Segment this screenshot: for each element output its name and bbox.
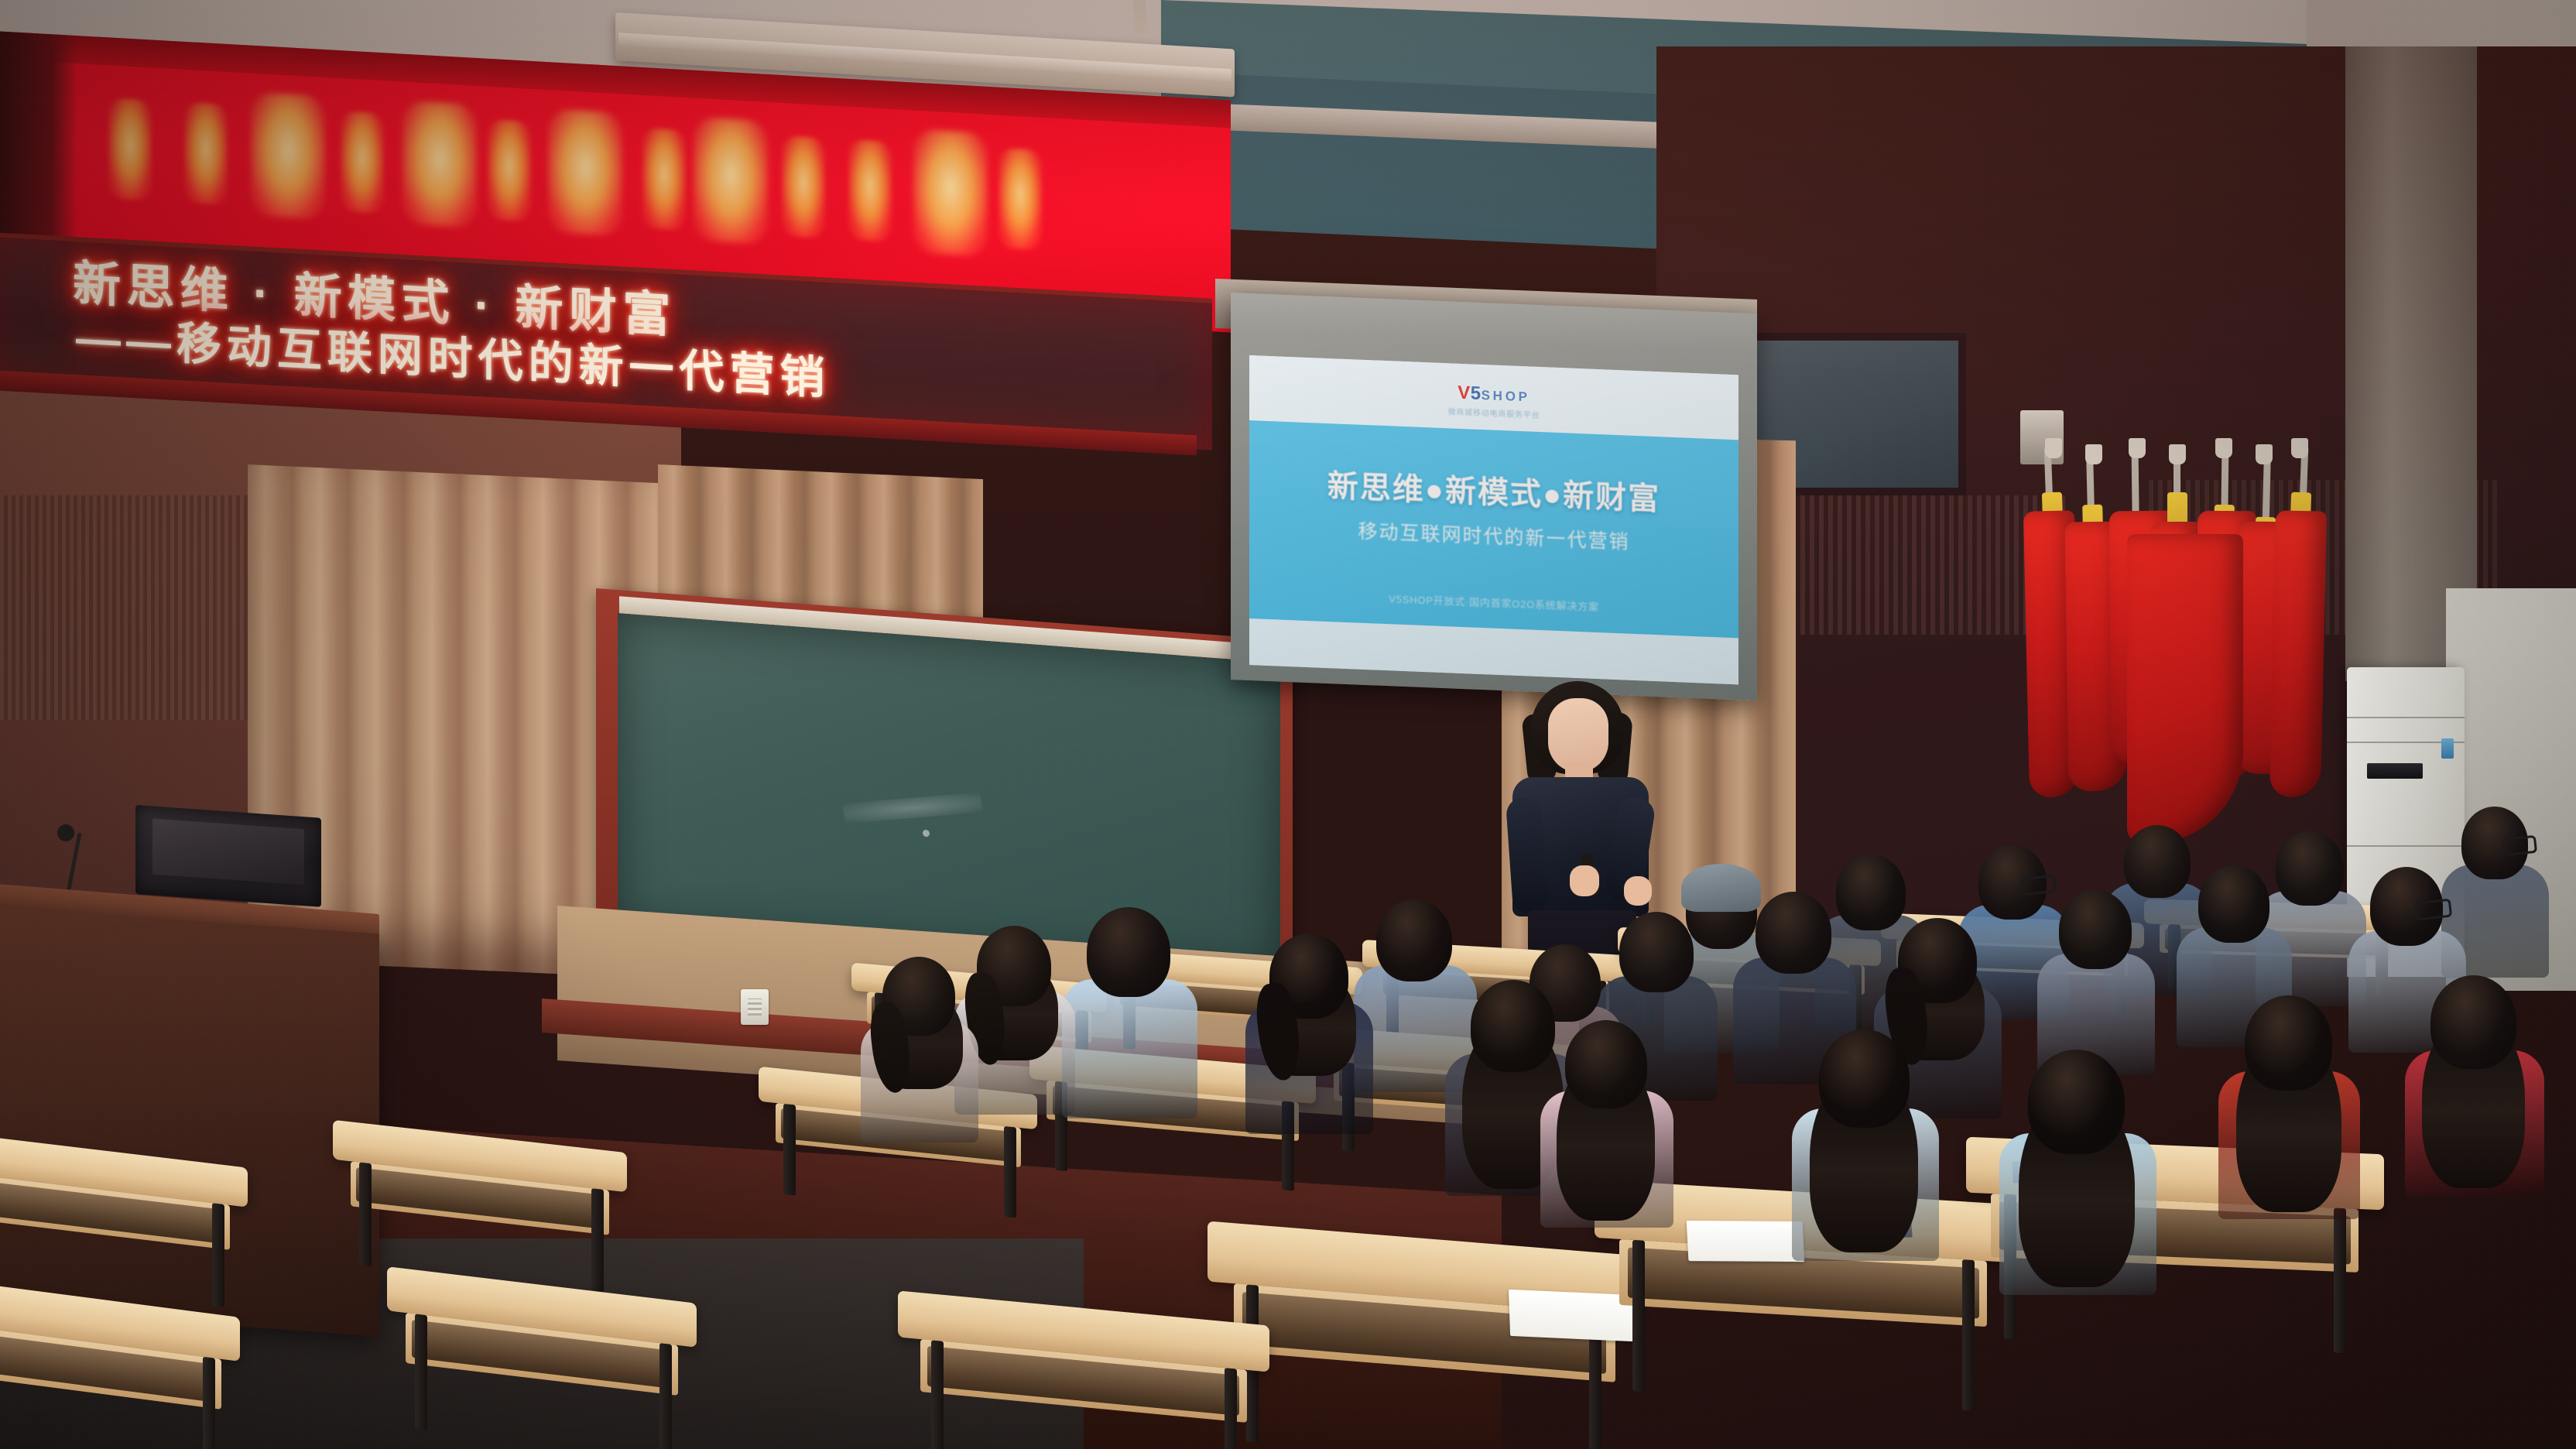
audience-person bbox=[1565, 1020, 1647, 1232]
led-glyph bbox=[488, 119, 531, 222]
desk-leg bbox=[931, 1340, 944, 1449]
red-flag bbox=[2269, 510, 2327, 797]
led-glyph bbox=[848, 139, 892, 242]
led-glyph bbox=[184, 102, 228, 205]
flag-finial-icon bbox=[2215, 438, 2232, 458]
open-notebook bbox=[1687, 1221, 1805, 1262]
flag-finial-icon bbox=[2169, 444, 2186, 464]
acoustic-wall-panel bbox=[0, 495, 255, 720]
ac-badge bbox=[2441, 738, 2454, 759]
audience-cap-icon bbox=[1681, 864, 1761, 912]
audience-head bbox=[1756, 892, 1831, 974]
audience-head bbox=[1376, 899, 1452, 981]
led-glyph bbox=[108, 98, 152, 200]
audience-head bbox=[1565, 1020, 1647, 1108]
led-glyph bbox=[913, 129, 988, 257]
audience-head bbox=[2198, 865, 2269, 943]
audience-head bbox=[2059, 890, 2132, 969]
light-hanger bbox=[1132, 0, 1147, 36]
flag-finial-icon bbox=[2129, 438, 2146, 458]
audience-head bbox=[1087, 907, 1170, 997]
slide-body-band: 新思维●新模式●新财富 移动互联网时代的新一代营销 V5SHOP开放式·国内首家… bbox=[1249, 420, 1738, 638]
presenter-hand-left bbox=[1570, 865, 1599, 896]
audience-person bbox=[1087, 907, 1170, 1122]
flag-finial-icon bbox=[2256, 444, 2273, 464]
desk-leg bbox=[212, 1203, 224, 1307]
desk-leg bbox=[591, 1188, 604, 1293]
led-glyph bbox=[642, 128, 686, 231]
audience-person bbox=[1819, 1029, 1910, 1266]
audience-torso bbox=[1062, 979, 1197, 1118]
led-glyph bbox=[694, 117, 768, 245]
led-glyph bbox=[251, 92, 325, 220]
audience-head bbox=[2245, 995, 2332, 1091]
led-glyph bbox=[548, 108, 622, 236]
audience-head bbox=[2276, 831, 2344, 906]
ac-seam bbox=[2347, 845, 2465, 847]
flag-finial-icon bbox=[2045, 438, 2062, 458]
desk-leg bbox=[359, 1163, 372, 1267]
eyeglasses-icon bbox=[2414, 899, 2452, 921]
audience-head bbox=[2028, 1050, 2125, 1154]
wall-outlet bbox=[741, 989, 769, 1025]
presentation-slide: V5SHOP 微商城移动电商服务平台 新思维●新模式●新财富 移动互联网时代的新… bbox=[1249, 355, 1738, 684]
desk-leg bbox=[1632, 1240, 1645, 1392]
audience-person bbox=[1376, 899, 1452, 1096]
led-glyph bbox=[341, 111, 384, 214]
slide-footer: V5SHOP开放式·国内首家O2O系统解决方案 bbox=[1249, 585, 1738, 619]
audience-person bbox=[1898, 918, 1977, 1122]
audience-person bbox=[1269, 933, 1348, 1138]
lecture-hall-photo: 新思维 · 新模式 · 新财富 ——移动互联网时代的新一代营销 V5SHOP 微… bbox=[0, 0, 2576, 1449]
flag-finial-icon bbox=[2291, 438, 2308, 458]
desk bbox=[1207, 1221, 1641, 1449]
logo-word-shop: SHOP bbox=[1482, 388, 1530, 405]
audience-head bbox=[1619, 912, 1694, 992]
presenter-hand-right bbox=[1624, 876, 1652, 906]
desk-leg bbox=[783, 1104, 796, 1196]
audience-person bbox=[882, 957, 955, 1146]
ac-display-panel bbox=[2367, 763, 2423, 779]
audience-head bbox=[1836, 855, 1906, 930]
audience-person bbox=[2245, 995, 2332, 1224]
ac-seam bbox=[2347, 717, 2465, 718]
led-glyph bbox=[402, 101, 477, 228]
logo-digit-5: 5 bbox=[1471, 382, 1482, 404]
desk-leg bbox=[659, 1343, 672, 1449]
logo-letter-v: V bbox=[1458, 382, 1471, 404]
microphone-icon bbox=[57, 824, 74, 841]
podium-monitor bbox=[135, 805, 321, 907]
desk-leg bbox=[1004, 1126, 1016, 1218]
audience-person bbox=[2430, 975, 2516, 1200]
red-flag-draped bbox=[2127, 534, 2243, 844]
slide-title: 新思维●新模式●新财富 bbox=[1249, 457, 1738, 522]
desk-leg bbox=[203, 1357, 215, 1449]
eyeglasses-icon bbox=[2502, 835, 2537, 856]
desk-leg bbox=[1225, 1368, 1237, 1449]
audience-head bbox=[1819, 1029, 1910, 1128]
led-left-shadow bbox=[0, 31, 77, 268]
chalk-smudge bbox=[842, 792, 983, 824]
audience-head bbox=[2124, 825, 2191, 898]
eyeglasses-icon bbox=[2020, 875, 2057, 896]
right-pillar bbox=[2345, 46, 2477, 681]
audience-person bbox=[977, 926, 1051, 1119]
desk-leg bbox=[2334, 1208, 2346, 1354]
audience-head bbox=[2430, 975, 2516, 1069]
desk-leg bbox=[415, 1314, 427, 1430]
flag-finial-icon bbox=[2085, 444, 2102, 464]
audience-person bbox=[2028, 1050, 2125, 1300]
audience-person bbox=[2461, 807, 2528, 981]
chalk-mark bbox=[923, 830, 930, 838]
projection-screen: V5SHOP 微商城移动电商服务平台 新思维●新模式●新财富 移动互联网时代的新… bbox=[1231, 293, 1757, 701]
audience-head bbox=[1471, 980, 1555, 1072]
led-glyph bbox=[782, 135, 825, 238]
led-glyph bbox=[999, 148, 1042, 251]
